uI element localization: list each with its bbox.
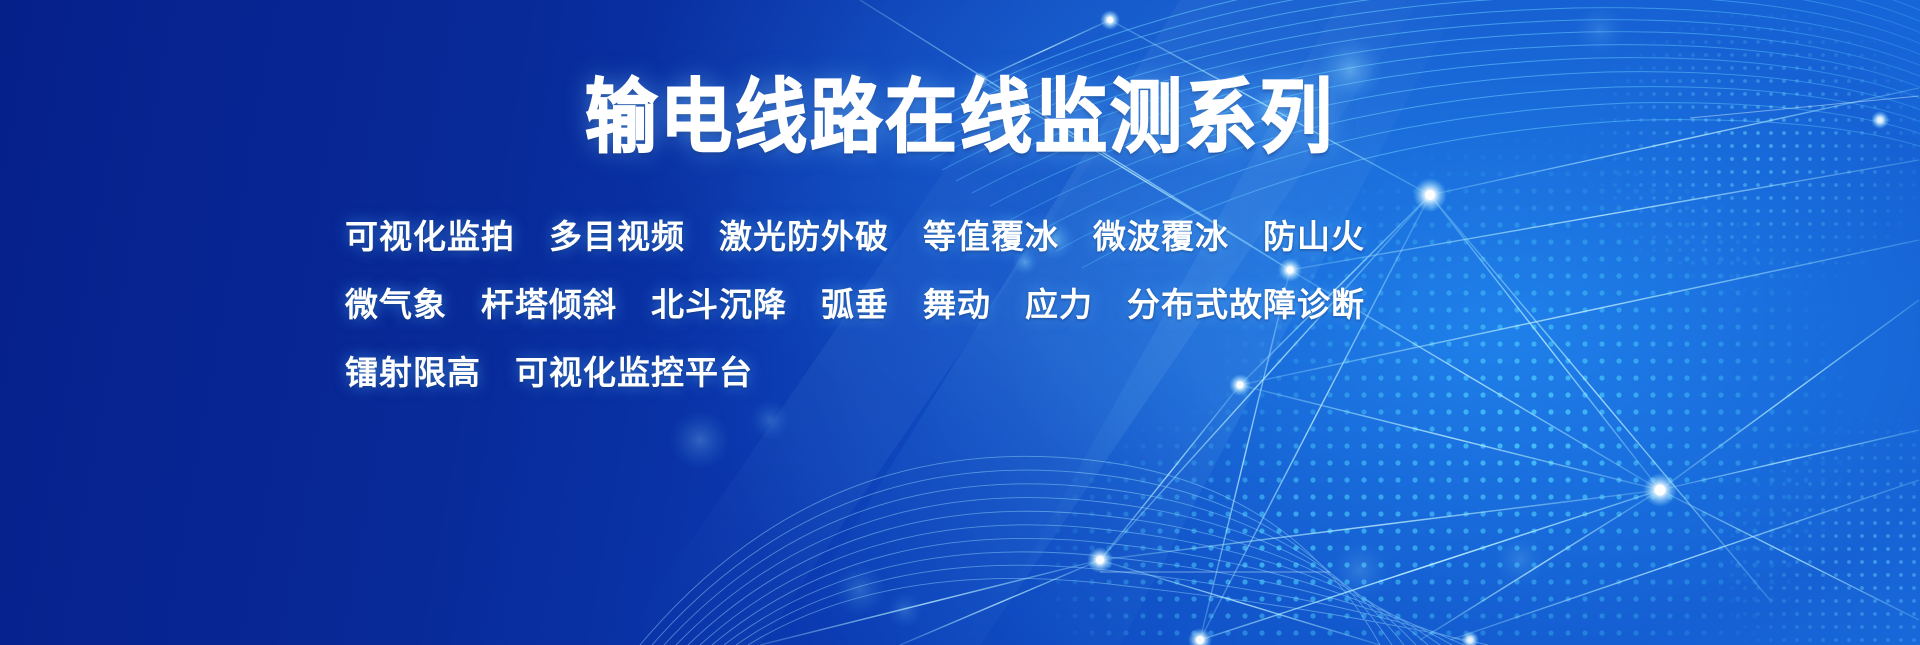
feature-item[interactable]: 可视化监控平台 [515, 346, 753, 394]
feature-item[interactable]: 杆塔倾斜 [481, 278, 617, 326]
banner-content: 输电线路在线监测系列 可视化监拍 多目视频 激光防外破 等值覆冰 微波覆冰 防山… [0, 0, 1920, 645]
feature-row-1: 可视化监拍 多目视频 激光防外破 等值覆冰 微波覆冰 防山火 [345, 200, 1345, 268]
feature-item[interactable]: 北斗沉降 [651, 278, 787, 326]
feature-item[interactable]: 应力 [1025, 278, 1093, 326]
feature-item[interactable]: 激光防外破 [719, 210, 889, 258]
feature-item[interactable]: 镭射限高 [345, 346, 481, 394]
banner-title: 输电线路在线监测系列 [0, 78, 1920, 159]
feature-item[interactable]: 等值覆冰 [923, 210, 1059, 258]
feature-item[interactable]: 微波覆冰 [1093, 210, 1229, 258]
feature-item[interactable]: 多目视频 [549, 210, 685, 258]
product-banner: 输电线路在线监测系列 可视化监拍 多目视频 激光防外破 等值覆冰 微波覆冰 防山… [0, 0, 1920, 645]
feature-item[interactable]: 舞动 [923, 278, 991, 326]
feature-item[interactable]: 防山火 [1263, 210, 1365, 258]
feature-row-2: 微气象 杆塔倾斜 北斗沉降 弧垂 舞动 应力 分布式故障诊断 [345, 268, 1345, 336]
feature-item[interactable]: 可视化监拍 [345, 210, 515, 258]
feature-item[interactable]: 微气象 [345, 278, 447, 326]
feature-item[interactable]: 弧垂 [821, 278, 889, 326]
feature-list: 可视化监拍 多目视频 激光防外破 等值覆冰 微波覆冰 防山火 微气象 杆塔倾斜 … [345, 200, 1345, 404]
feature-row-3: 镭射限高 可视化监控平台 [345, 336, 1345, 404]
feature-item[interactable]: 分布式故障诊断 [1127, 278, 1365, 326]
